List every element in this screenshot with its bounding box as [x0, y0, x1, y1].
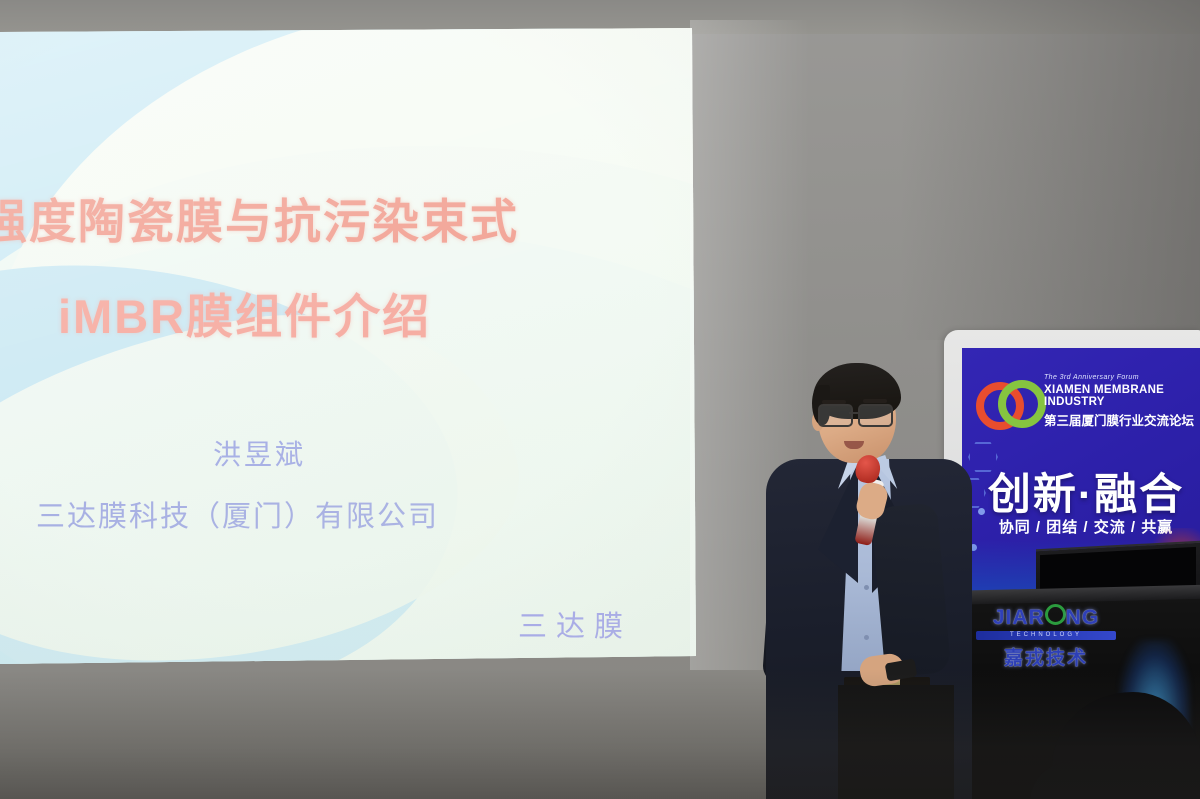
slide-title-line-2: iMBR膜组件介绍	[58, 278, 658, 347]
projection-screen: 强度陶瓷膜与抗污染束式 iMBR膜组件介绍 洪昱斌 三达膜科技（厦门）有限公司 …	[0, 28, 698, 664]
conference-photo-scene: 强度陶瓷膜与抗污染束式 iMBR膜组件介绍 洪昱斌 三达膜科技（厦门）有限公司 …	[0, 0, 1200, 799]
shirt-button	[864, 635, 869, 640]
podium-logo-cn: 嘉戎技术	[966, 643, 1126, 670]
wall-shadow-right	[900, 0, 1200, 340]
banner-forum-en-small: The 3rd Anniversary Forum	[1044, 374, 1139, 381]
slide-title-line-1: 强度陶瓷膜与抗污染束式	[0, 183, 620, 252]
podium-logo: JIARNG TECHNOLOGY 嘉戎技术	[966, 604, 1126, 660]
podium-logo-en-tail: NG	[1066, 606, 1100, 629]
glasses-lens-left	[818, 404, 853, 427]
projected-slide: 强度陶瓷膜与抗污染束式 iMBR膜组件介绍 洪昱斌 三达膜科技（厦门）有限公司 …	[0, 28, 698, 664]
podium-logo-subtitle: TECHNOLOGY	[976, 631, 1116, 640]
slide-presenter-name: 洪昱斌	[213, 433, 306, 473]
floor-shadow	[0, 669, 1200, 799]
podium-logo-en-head: JIAR	[993, 606, 1045, 629]
podium-logo-en: JIARNG	[966, 604, 1126, 630]
banner-headline: 创新·融合	[974, 460, 1198, 522]
banner-forum-cn-sub: 第三届厦门膜行业交流论坛	[1044, 410, 1194, 429]
banner-forum-en-big: XIAMEN MEMBRANE INDUSTRY	[1044, 384, 1164, 408]
slide-brand-mark: 三达膜	[518, 603, 632, 645]
forum-logo-ring-green	[998, 380, 1046, 428]
speaker-brow-right	[863, 399, 887, 403]
glasses-lens-right	[858, 404, 893, 427]
slide-text-block: 强度陶瓷膜与抗污染束式 iMBR膜组件介绍 洪昱斌 三达膜科技（厦门）有限公司 …	[0, 28, 698, 664]
podium-logo-o-icon	[1045, 604, 1066, 625]
slide-company-name: 三达膜科技（厦门）有限公司	[36, 493, 439, 535]
shirt-button	[864, 585, 869, 590]
glasses-bridge	[849, 412, 858, 414]
speaker-glasses-icon	[818, 404, 900, 424]
